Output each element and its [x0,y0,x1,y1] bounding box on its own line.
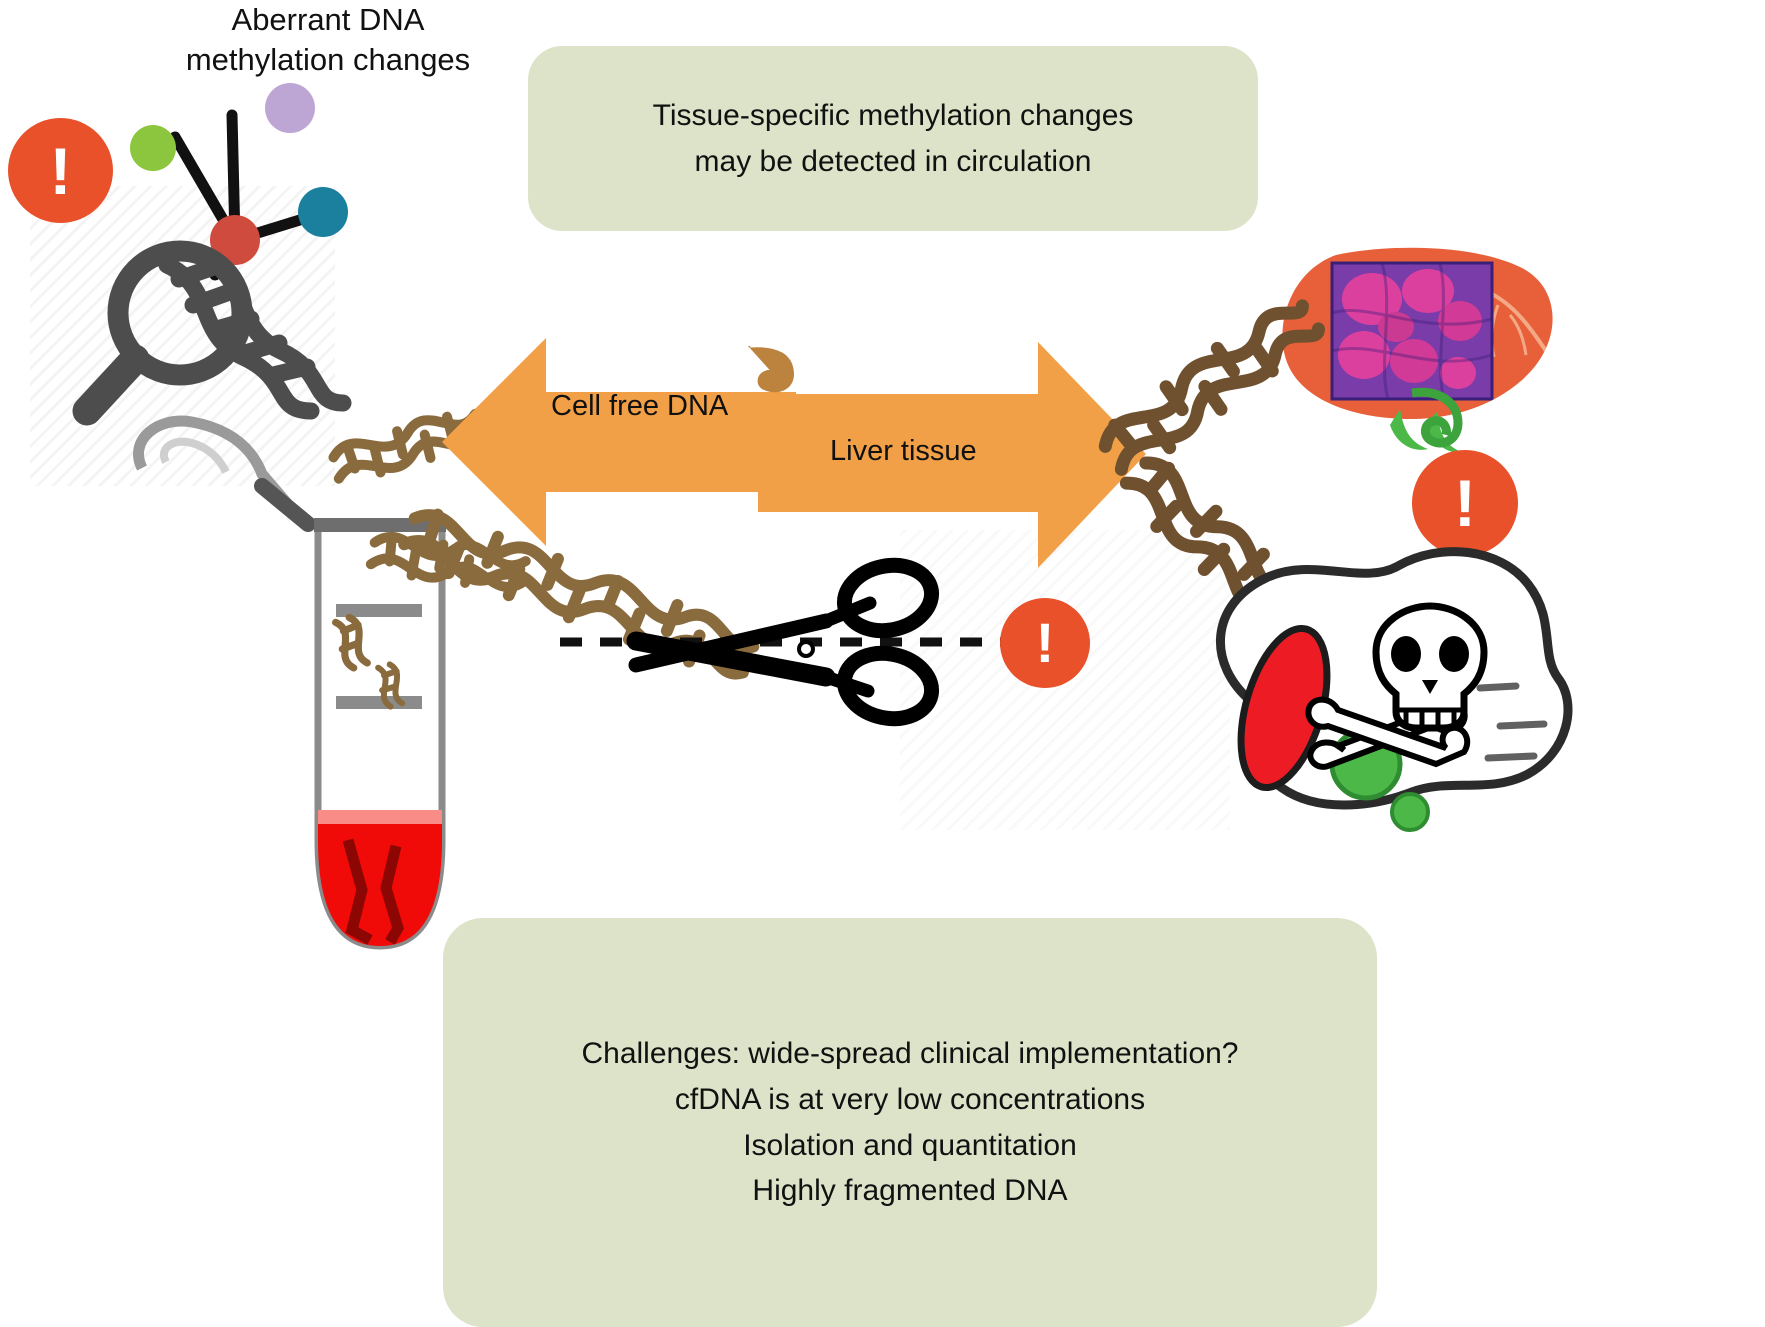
arrow-liver-tissue-label: Liver tissue [830,435,977,468]
callout-bottom-line-1: Challenges: wide-spread clinical impleme… [581,1031,1238,1077]
methyl-node-purple [265,83,315,133]
callout-bottom-line-2: cfDNA is at very low concentrations [581,1077,1238,1123]
liver-histology-inset [1332,263,1492,399]
dna-helix-icon [167,257,343,411]
figure-canvas: Aberrant DNA methylation changes Tissue-… [0,0,1765,1327]
methyl-node-green [130,125,176,171]
dna-strand-liver [1085,295,1335,485]
cell-organelle-small [1392,794,1428,830]
callout-top-line-2: may be detected in circulation [653,139,1134,185]
alert-glyph: ! [50,138,72,204]
tube-blood-fill [300,810,460,970]
dying-cell-illustration [1148,512,1588,842]
callout-top: Tissue-specific methylation changes may … [528,46,1258,231]
callout-bottom: Challenges: wide-spread clinical impleme… [443,918,1377,1327]
page-title-line-1: Aberrant DNA [128,0,528,40]
alert-fragmentation-badge: ! [1000,598,1090,688]
arrow-cell-free-dna-label: Cell free DNA [551,390,728,423]
methyl-node-teal [298,187,348,237]
tube-lid-icon [122,408,322,548]
scissors-icon [630,565,930,720]
alert-methylation-badge: ! [8,118,113,223]
callout-top-line-1: Tissue-specific methylation changes [653,93,1134,139]
callout-bottom-line-3: Isolation and quantitation [581,1123,1238,1169]
page-title: Aberrant DNA methylation changes [128,0,528,79]
alert-glyph-2: ! [1036,615,1055,671]
callout-bottom-line-4: Highly fragmented DNA [581,1168,1238,1214]
magnifier-dna-icon [75,235,355,425]
page-title-line-2: methylation changes [128,40,528,80]
